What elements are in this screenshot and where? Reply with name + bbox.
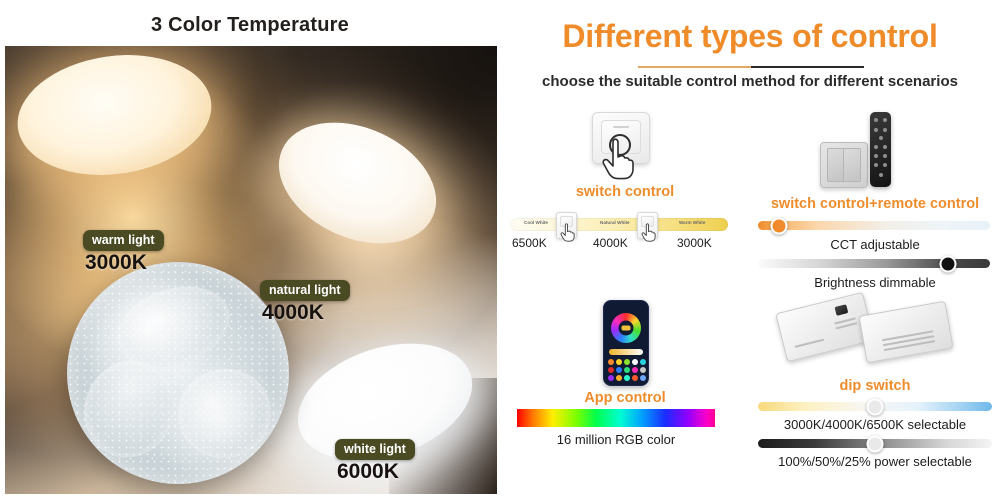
glitter-diffuser-disc <box>67 262 289 484</box>
hand-pointer-icon-small-2 <box>641 223 656 242</box>
right-panel-subtitle: choose the suitable control method for d… <box>500 73 1000 90</box>
color-temperature-panel: 3 Color Temperature warm light 3000K nat… <box>0 0 500 500</box>
smartphone-app-icon <box>603 300 649 386</box>
kelvin-warm-light: 3000K <box>85 251 147 275</box>
power-selectable-caption: 100%/50%/25% power selectable <box>750 454 1000 469</box>
divider-segment-orange <box>638 66 751 68</box>
switch-remote-control-label: switch control+remote control <box>750 196 1000 212</box>
app-brightness-bar <box>609 349 643 355</box>
badge-warm-light: warm light <box>83 230 164 251</box>
cct-selectable-caption: 3000K/4000K/6500K selectable <box>750 417 1000 432</box>
product-infographic: 3 Color Temperature warm light 3000K nat… <box>0 0 1000 500</box>
rgb-spectrum-bar <box>517 409 715 427</box>
ceiling-lamp-photo: warm light 3000K natural light 4000K whi… <box>5 46 497 494</box>
kelvin-step-3000k: 3000K <box>677 236 712 250</box>
switch-control-label: switch control <box>500 184 750 200</box>
section-switch-control: switch control Cool White Natural White … <box>500 108 750 298</box>
app-color-swatches <box>608 359 644 381</box>
section-app-control: App control 16 million RGB color <box>500 292 750 482</box>
rgb-color-caption: 16 million RGB color <box>500 432 732 447</box>
brightness-dimmable-slider[interactable] <box>758 259 990 268</box>
switch-gang-right <box>843 148 861 182</box>
kelvin-step-6500k: 6500K <box>512 236 547 250</box>
brightness-slider-knob[interactable] <box>940 255 957 272</box>
kelvin-step-4000k: 4000K <box>593 236 628 250</box>
kelvin-natural-light: 4000K <box>262 301 324 325</box>
app-control-label: App control <box>500 390 750 406</box>
cct-adjustable-slider[interactable] <box>758 221 990 230</box>
power-selectable-slider[interactable] <box>758 439 992 448</box>
title-divider <box>638 66 864 68</box>
section-dip-switch: dip switch 3000K/4000K/6500K selectable … <box>750 288 1000 478</box>
hand-pointer-icon <box>601 138 635 180</box>
step-tag-warm-white: Warm White <box>679 220 705 225</box>
step-tag-natural-white: Natural White <box>600 220 630 225</box>
right-panel-title: Different types of control <box>500 18 1000 55</box>
dip-switch-label: dip switch <box>750 378 1000 394</box>
cct-slider-knob[interactable] <box>770 217 787 234</box>
remote-control-icon <box>870 112 891 187</box>
step-tag-cool-white: Cool White <box>524 220 548 225</box>
power-selectable-knob[interactable] <box>867 435 884 452</box>
cct-selectable-slider[interactable] <box>758 402 992 411</box>
divider-segment-dark <box>751 66 864 68</box>
left-panel-title: 3 Color Temperature <box>0 14 500 37</box>
badge-natural-light: natural light <box>260 280 350 301</box>
control-types-panel: Different types of control choose the su… <box>500 0 1000 500</box>
cct-adjustable-caption: CCT adjustable <box>750 237 1000 252</box>
cct-selectable-knob[interactable] <box>867 398 884 415</box>
hand-pointer-icon-small-1 <box>560 223 575 242</box>
kelvin-white-light: 6000K <box>337 460 399 484</box>
badge-white-light: white light <box>335 439 415 460</box>
disc-petal <box>107 273 240 380</box>
color-wheel-icon <box>611 313 641 343</box>
section-switch-remote-control: switch control+remote control CCT adjust… <box>750 104 1000 294</box>
